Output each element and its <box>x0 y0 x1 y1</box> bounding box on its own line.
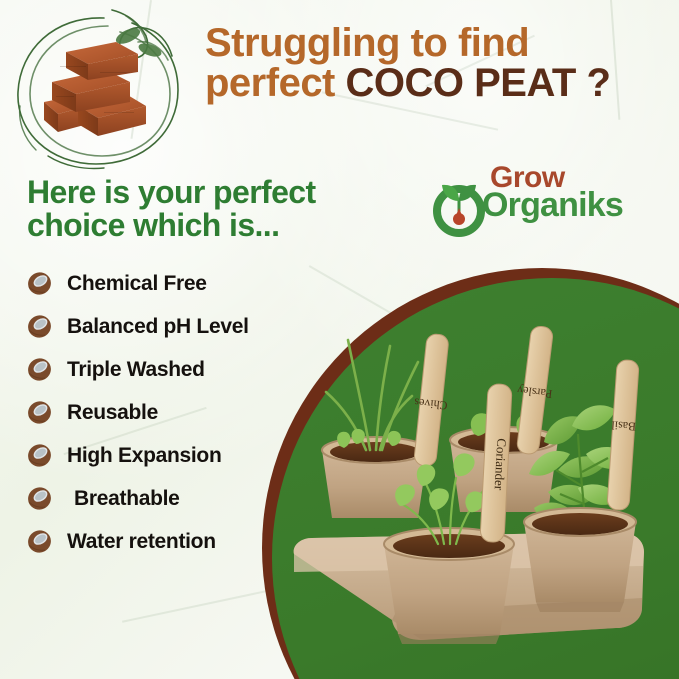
logo-wordmark: Grow Organiks <box>468 165 618 221</box>
subheadline-line-2: choice which is... <box>27 209 382 242</box>
headline-line-2-orange: perfect <box>205 61 346 105</box>
list-item: Chemical Free <box>26 262 326 305</box>
poster-canvas: Struggling to find perfect COCO PEAT ? H… <box>0 0 679 679</box>
list-item: Triple Washed <box>26 348 326 391</box>
list-item: Breathable <box>26 477 326 520</box>
feature-label: Reusable <box>67 401 158 425</box>
list-item: High Expansion <box>26 434 326 477</box>
coconut-half-icon <box>26 442 53 469</box>
headline-line-2: perfect COCO PEAT ? <box>205 64 675 102</box>
brand-logo: Grow Organiks <box>428 163 613 241</box>
list-item: Water retention <box>26 520 326 563</box>
headline-line-2-dark: COCO PEAT ? <box>346 61 611 105</box>
feature-label: Chemical Free <box>67 272 207 296</box>
coconut-half-icon <box>26 270 53 297</box>
subheadline-line-1: Here is your perfect <box>27 176 382 209</box>
coconut-half-icon <box>26 356 53 383</box>
feature-label: Triple Washed <box>67 358 205 382</box>
feature-label: Water retention <box>67 530 216 554</box>
logo-word-organiks: Organiks <box>482 191 618 221</box>
list-item: Reusable <box>26 391 326 434</box>
headline-line-1: Struggling to find <box>205 24 675 62</box>
list-item: Balanced pH Level <box>26 305 326 348</box>
coconut-half-icon <box>26 485 53 512</box>
feature-label: High Expansion <box>67 444 221 468</box>
plant-label-parsley: Parsley <box>516 383 553 401</box>
subheadline: Here is your perfect choice which is... <box>27 176 382 243</box>
plant-label-coriander: Coriander <box>492 438 510 491</box>
headline: Struggling to find perfect COCO PEAT ? <box>205 24 675 103</box>
feature-label: Balanced pH Level <box>67 315 249 339</box>
seedling-pots-tray-photo: Chives Parsley <box>286 322 679 679</box>
coconut-half-icon <box>26 313 53 340</box>
coconut-half-icon <box>26 399 53 426</box>
coco-peat-bricks-illustration <box>30 36 165 146</box>
feature-label: Breathable <box>74 487 180 511</box>
coconut-half-icon <box>26 528 53 555</box>
plant-label-basil: Basil <box>610 418 636 434</box>
feature-list: Chemical Free Balanced pH Level Triple W… <box>26 262 326 563</box>
